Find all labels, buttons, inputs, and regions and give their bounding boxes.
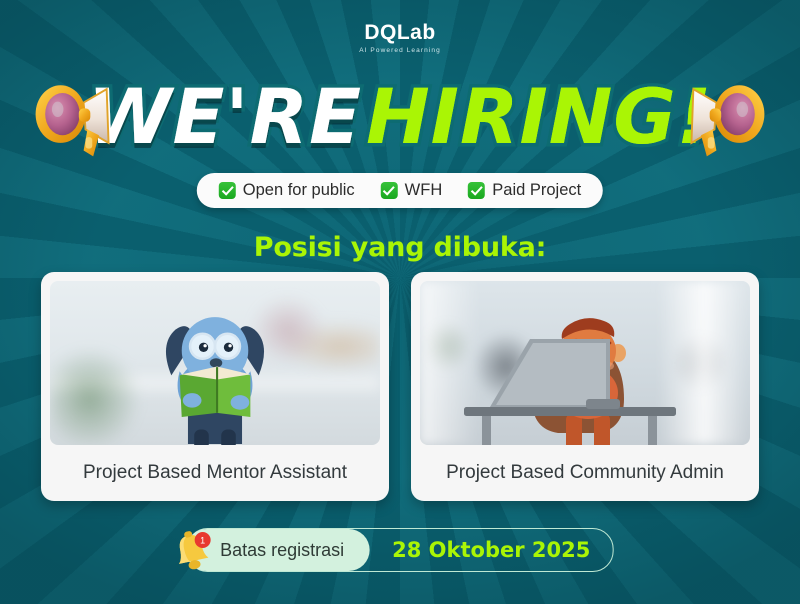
deadline-label-pill: Batas registrasi (186, 529, 370, 571)
megaphone-icon (678, 68, 774, 164)
check-icon (468, 182, 485, 199)
badge-wfh: WFH (381, 181, 443, 200)
bell-icon: 1 (170, 529, 214, 573)
badge-paid-project: Paid Project (468, 181, 581, 200)
bell-badge-count: 1 (200, 536, 205, 546)
orange-monkey-mascot-icon (420, 281, 750, 445)
headline-part-1: WE'RE (88, 79, 362, 155)
check-icon (219, 182, 236, 199)
badge-open-for-public: Open for public (219, 181, 355, 200)
deadline-label: Batas registrasi (220, 540, 344, 561)
position-image (420, 281, 750, 445)
badge-label: Paid Project (492, 181, 581, 200)
position-title: Project Based Mentor Assistant (50, 445, 380, 501)
blue-dog-mascot-icon (50, 281, 380, 445)
badge-label: Open for public (243, 181, 355, 200)
position-image (50, 281, 380, 445)
megaphone-icon (26, 68, 122, 164)
position-card[interactable]: Project Based Mentor Assistant (41, 272, 389, 501)
badge-pill-group: Open for public WFH Paid Project (197, 173, 603, 208)
check-icon (381, 182, 398, 199)
hiring-poster: DQLab AI Powered Learning (0, 0, 800, 604)
position-title: Project Based Community Admin (420, 445, 750, 501)
headline-part-2: HIRING! (366, 79, 712, 155)
deadline-date: 28 Oktober 2025 (392, 538, 590, 562)
positions-list: Project Based Mentor Assistant (0, 272, 800, 501)
brand-logo: DQLab AI Powered Learning (0, 22, 800, 54)
deadline-bar: 1 Batas registrasi 28 Oktober 2025 (187, 528, 614, 572)
section-title: Posisi yang dibuka: (0, 232, 800, 263)
logo-wordmark: DQLab (364, 22, 435, 43)
position-card[interactable]: Project Based Community Admin (411, 272, 759, 501)
logo-tagline: AI Powered Learning (0, 47, 800, 54)
badge-label: WFH (405, 181, 443, 200)
